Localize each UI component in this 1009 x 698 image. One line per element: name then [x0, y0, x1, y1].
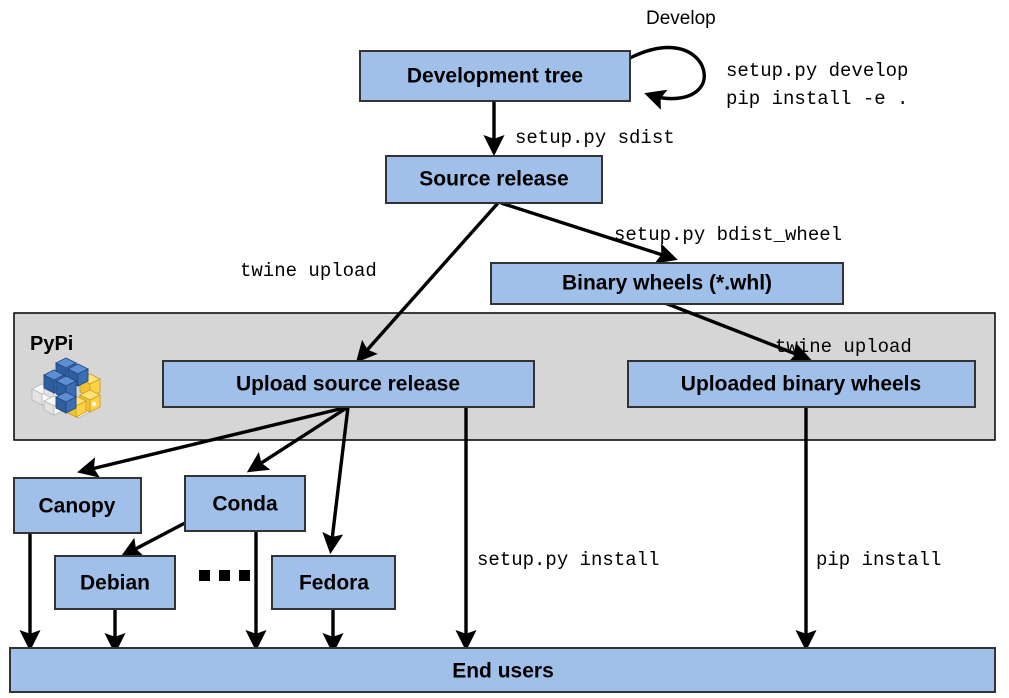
edge-develop-loop [630, 48, 704, 99]
node-binary-wheels[interactable]: Binary wheels (*.whl) [491, 263, 843, 304]
node-uploaded-binary-wheels[interactable]: Uploaded binary wheels [628, 361, 975, 407]
edge-label-develop: Develop [646, 8, 716, 29]
edge-label-setup-install: setup.py install [477, 549, 659, 571]
packaging-flow-diagram: PyPi [0, 0, 1009, 698]
node-fedora-label: Fedora [299, 572, 369, 595]
node-end-users[interactable]: End users [10, 648, 995, 692]
node-binary-wheels-label: Binary wheels (*.whl) [562, 272, 772, 295]
node-source-release-label: Source release [419, 168, 568, 191]
node-upload-source-release[interactable]: Upload source release [163, 361, 534, 407]
node-source-release[interactable]: Source release [386, 156, 602, 203]
diagram-canvas: PyPi [0, 0, 1009, 698]
node-debian-label: Debian [80, 572, 150, 595]
edge-label-twine-upload-source: twine upload [240, 260, 377, 282]
edge-label-pip-install-editable: pip install -e . [726, 88, 908, 110]
edge-label-twine-upload-wheels: twine upload [775, 336, 912, 358]
node-end-users-label: End users [452, 660, 554, 683]
edge-label-pip-install: pip install [816, 549, 941, 571]
edge-label-setup-develop: setup.py develop [726, 60, 908, 82]
node-conda[interactable]: Conda [185, 476, 305, 531]
node-canopy-label: Canopy [38, 495, 115, 518]
node-fedora[interactable]: Fedora [272, 556, 395, 609]
edge-label-setup-bdist-wheel: setup.py bdist_wheel [614, 224, 842, 246]
node-conda-label: Conda [212, 493, 278, 516]
pypi-region-label: PyPi [30, 333, 73, 355]
node-debian[interactable]: Debian [55, 556, 175, 609]
node-upload-source-release-label: Upload source release [236, 373, 460, 396]
node-canopy[interactable]: Canopy [14, 478, 141, 533]
edge-label-setup-sdist: setup.py sdist [515, 127, 675, 149]
ellipsis-more-distros [199, 570, 250, 581]
node-uploaded-binary-wheels-label: Uploaded binary wheels [681, 373, 921, 396]
node-development-tree[interactable]: Development tree [360, 51, 630, 101]
node-development-tree-label: Development tree [407, 65, 583, 88]
